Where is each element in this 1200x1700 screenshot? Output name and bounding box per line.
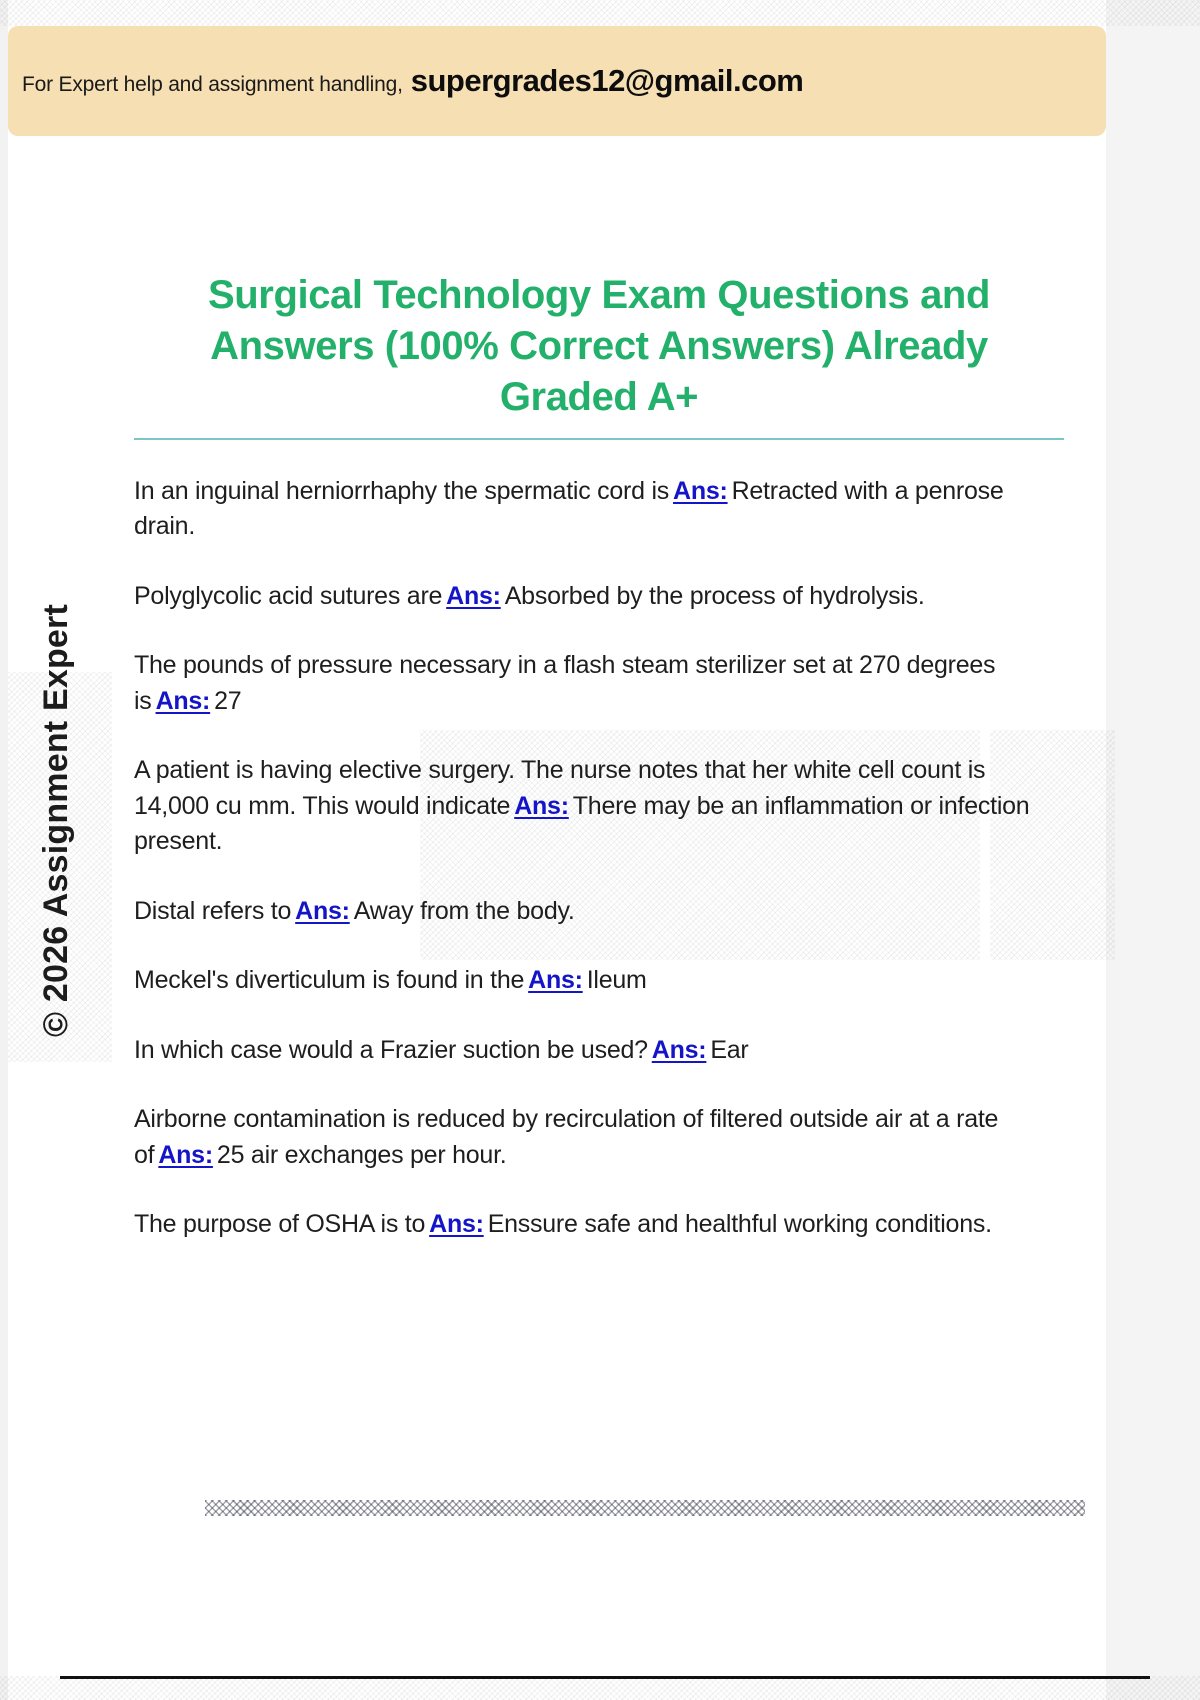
qa-item: The pounds of pressure necessary in a fl… xyxy=(134,648,1064,719)
qa-question: In which case would a Frazier suction be… xyxy=(134,1036,648,1064)
contact-banner-lead-text: For Expert help and assignment handling, xyxy=(22,73,403,96)
security-texture-top xyxy=(0,0,1200,26)
qa-question: In an inguinal herniorrhaphy the spermat… xyxy=(134,477,669,505)
contact-email[interactable]: supergrades12@gmail.com xyxy=(411,63,804,98)
qa-item: The purpose of OSHA is toAns:Enssure saf… xyxy=(134,1207,1064,1243)
page-bottom-rule xyxy=(60,1676,1150,1679)
answer-label-icon: Ans: xyxy=(295,897,350,925)
document-content: Surgical Technology Exam Questions and A… xyxy=(134,270,1064,1243)
page-title: Surgical Technology Exam Questions and A… xyxy=(134,270,1064,424)
qa-item: Airborne contamination is reduced by rec… xyxy=(134,1102,1064,1173)
answer-label-icon: Ans: xyxy=(652,1036,707,1064)
qa-answer: Away from the body. xyxy=(354,897,575,925)
qa-answer: 25 air exchanges per hour. xyxy=(217,1141,507,1169)
answer-label-icon: Ans: xyxy=(673,477,728,505)
answer-label-icon: Ans: xyxy=(514,792,569,820)
qa-question: The purpose of OSHA is to xyxy=(134,1210,425,1238)
qa-item: In which case would a Frazier suction be… xyxy=(134,1033,1064,1069)
page-gutter-right xyxy=(1106,0,1200,1700)
answer-label-icon: Ans: xyxy=(446,582,501,610)
contact-banner: For Expert help and assignment handling,… xyxy=(8,26,1106,136)
qa-answer: 27 xyxy=(214,687,241,715)
qa-list: In an inguinal herniorrhaphy the spermat… xyxy=(134,474,1064,1243)
qa-item: Polyglycolic acid sutures areAns:Absorbe… xyxy=(134,579,1064,615)
contact-banner-inner: For Expert help and assignment handling,… xyxy=(8,63,803,99)
qa-question: Distal refers to xyxy=(134,897,291,925)
qa-answer: Enssure safe and healthful working condi… xyxy=(488,1210,992,1238)
qa-item: In an inguinal herniorrhaphy the spermat… xyxy=(134,474,1064,545)
qa-item: Distal refers toAns:Away from the body. xyxy=(134,894,1064,930)
answer-label-icon: Ans: xyxy=(158,1141,213,1169)
qa-question: The pounds of pressure necessary in a fl… xyxy=(134,651,995,715)
title-divider xyxy=(134,438,1064,440)
qa-question: Polyglycolic acid sutures are xyxy=(134,582,442,610)
qa-question: Meckel's diverticulum is found in the xyxy=(134,966,524,994)
qa-answer: Absorbed by the process of hydrolysis. xyxy=(505,582,925,610)
qa-answer: Ear xyxy=(710,1036,748,1064)
qa-item: Meckel's diverticulum is found in theAns… xyxy=(134,963,1064,999)
qa-answer: Ileum xyxy=(587,966,647,994)
security-texture-bottom xyxy=(0,1676,1200,1700)
copyright-watermark: © 2026 Assignment Expert xyxy=(28,560,84,1080)
answer-label-icon: Ans: xyxy=(156,687,211,715)
qa-item: A patient is having elective surgery. Th… xyxy=(134,753,1064,860)
answer-label-icon: Ans: xyxy=(528,966,583,994)
document-page: For Expert help and assignment handling,… xyxy=(0,0,1200,1700)
copyright-watermark-text: © 2026 Assignment Expert xyxy=(37,604,76,1037)
zigzag-divider xyxy=(205,1500,1085,1516)
answer-label-icon: Ans: xyxy=(429,1210,484,1238)
page-gutter-left xyxy=(0,0,8,1700)
